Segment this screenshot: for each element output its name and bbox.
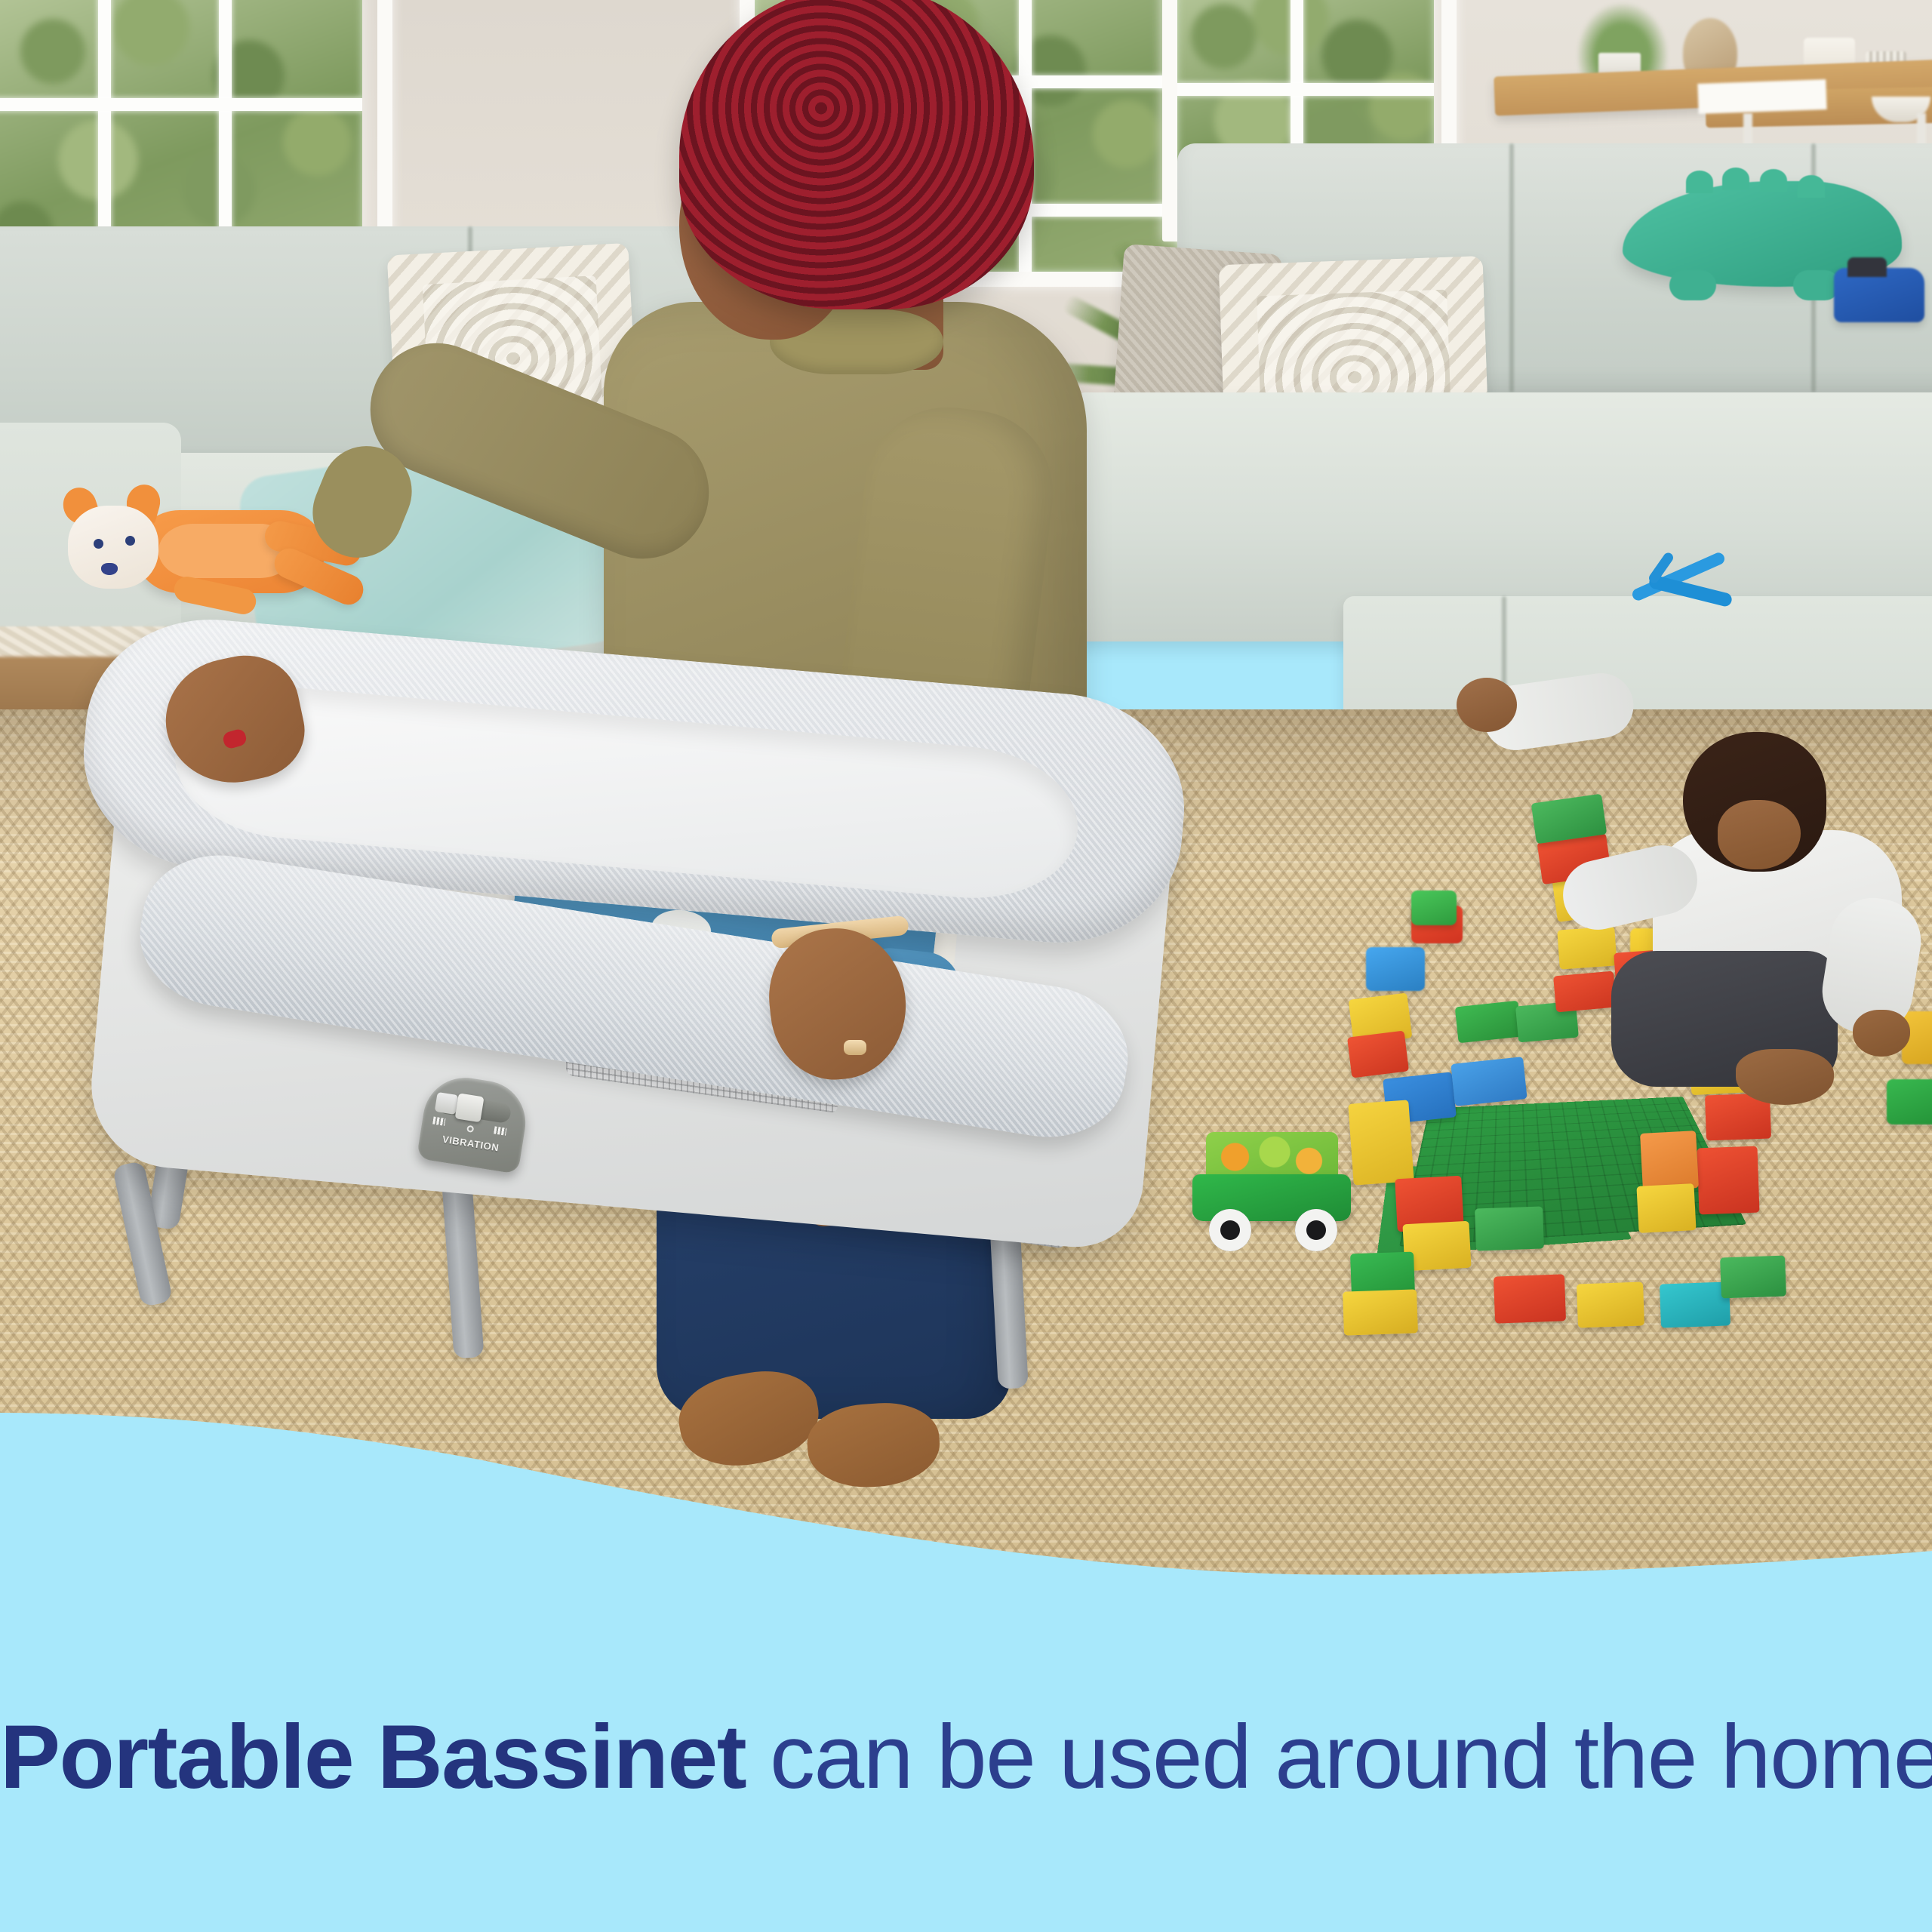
- woman-ring: [844, 1040, 866, 1055]
- vibration-high-icon: [494, 1126, 506, 1135]
- caption-bold: Portable Bassinet: [0, 1706, 746, 1807]
- toddler-playing: [1645, 724, 1932, 1087]
- vibration-slider-knob[interactable]: [455, 1093, 485, 1122]
- block-green-4: [1475, 1206, 1544, 1251]
- vibration-slider-knob-secondary[interactable]: [435, 1092, 459, 1115]
- console-papers: [1697, 79, 1826, 114]
- vibration-low-icon: [432, 1117, 445, 1126]
- block-teal-1: [1660, 1281, 1730, 1327]
- toy-car-blue: [1834, 268, 1924, 322]
- block-green-1: [1455, 1001, 1522, 1044]
- block-red-5: [1697, 1146, 1759, 1215]
- block-red-2: [1553, 971, 1617, 1013]
- block-blue-2: [1451, 1057, 1527, 1106]
- toy-car-small-blue: [1366, 947, 1425, 991]
- block-red-7: [1494, 1274, 1566, 1323]
- caption-text: Portable Bassinet can be used around the…: [0, 1712, 1932, 1802]
- block-green-6: [1720, 1256, 1786, 1299]
- toy-block-small-green: [1411, 891, 1457, 925]
- caption-rest: can be used around the home: [746, 1706, 1932, 1807]
- toy-airplane: [1623, 551, 1751, 634]
- toddler-foot: [1736, 1049, 1834, 1105]
- toddler-hand-right: [1853, 1010, 1910, 1057]
- product-lifestyle-photo: VIBRATION: [0, 0, 1932, 1600]
- toddler-reaching-hand: [1457, 678, 1517, 732]
- block-yellow-8: [1577, 1281, 1644, 1327]
- screenshot-root: VIBRATION Portable Bassinet can be used …: [0, 0, 1932, 1932]
- vibration-label: VIBRATION: [419, 1130, 522, 1157]
- portable-bassinet: VIBRATION: [83, 702, 1275, 1592]
- block-yellow-7: [1343, 1289, 1418, 1335]
- woman-hair: [679, 0, 1034, 309]
- block-orange-1: [1640, 1131, 1699, 1191]
- block-yellow-5: [1636, 1183, 1696, 1233]
- vibration-off-icon: [466, 1125, 474, 1133]
- block-yellow-3: [1557, 926, 1617, 969]
- block-red-1: [1347, 1031, 1409, 1078]
